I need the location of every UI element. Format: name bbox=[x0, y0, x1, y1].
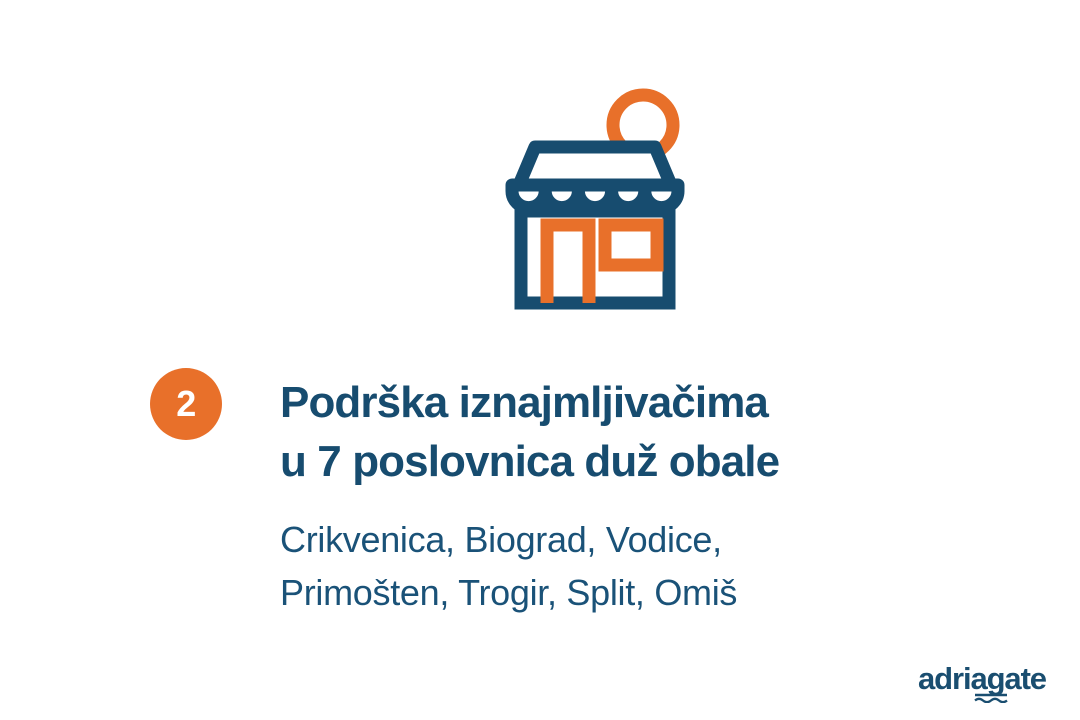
storefront-icon bbox=[495, 85, 695, 310]
subtitle-group: Crikvenica, Biograd, Vodice, Primošten, … bbox=[280, 513, 1040, 620]
step-number-badge: 2 bbox=[150, 368, 222, 440]
headline-line-1: Podrška iznajmljivačima bbox=[280, 374, 1040, 433]
step-number-label: 2 bbox=[176, 386, 196, 422]
brand-logo-wave-icon bbox=[974, 693, 1008, 703]
brand-logo: adriagate bbox=[918, 663, 1060, 705]
headline-line-2: u 7 poslovnica duž obale bbox=[280, 433, 1040, 492]
text-content-block: Podrška iznajmljivačima u 7 poslovnica d… bbox=[280, 374, 1040, 620]
subtitle-line-2: Primošten, Trogir, Split, Omiš bbox=[280, 566, 1040, 619]
brand-logo-text: adriagate bbox=[918, 663, 1046, 694]
slide-canvas: 2 Podrška iznajmljivačima u 7 poslovnica… bbox=[0, 0, 1080, 720]
shop-awning bbox=[512, 185, 678, 208]
subtitle-line-1: Crikvenica, Biograd, Vodice, bbox=[280, 513, 1040, 566]
